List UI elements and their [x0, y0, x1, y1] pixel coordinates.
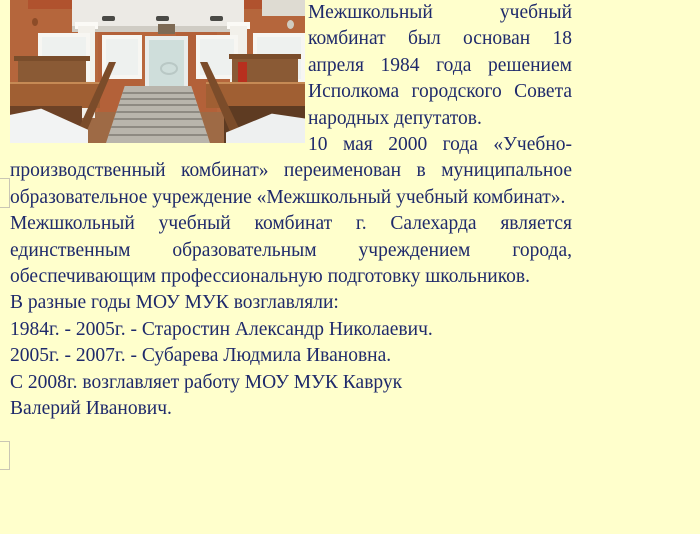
- paragraph-role-in-city: Межшкольный учебный комбинат г. Салехард…: [10, 211, 572, 290]
- photo-text-wrap-spacer: [10, 0, 308, 143]
- presentation-slide: Межшкольный учебный комбинат был основан…: [0, 0, 700, 534]
- paragraph-director-since-2008-continued: Валерий Иванович.: [10, 396, 572, 422]
- slide-text-body: Межшкольный учебный комбинат был основан…: [10, 0, 572, 423]
- paragraph-director-1984-2005: 1984г. - 2005г. - Старостин Александр Ни…: [10, 317, 572, 343]
- paragraph-director-2005-2007: 2005г. - 2007г. - Субарева Людмила Ивано…: [10, 343, 572, 369]
- paragraph-director-since-2008: С 2008г. возглавляет работу МОУ МУК Кавр…: [10, 370, 572, 396]
- textbox-outline-bottom: [0, 441, 10, 470]
- paragraph-renaming-2000: 10 мая 2000 года «Учебно-производственны…: [10, 132, 572, 211]
- textbox-outline-top: [0, 178, 10, 208]
- paragraph-directors-heading: В разные годы МОУ МУК возглавляли:: [10, 290, 572, 316]
